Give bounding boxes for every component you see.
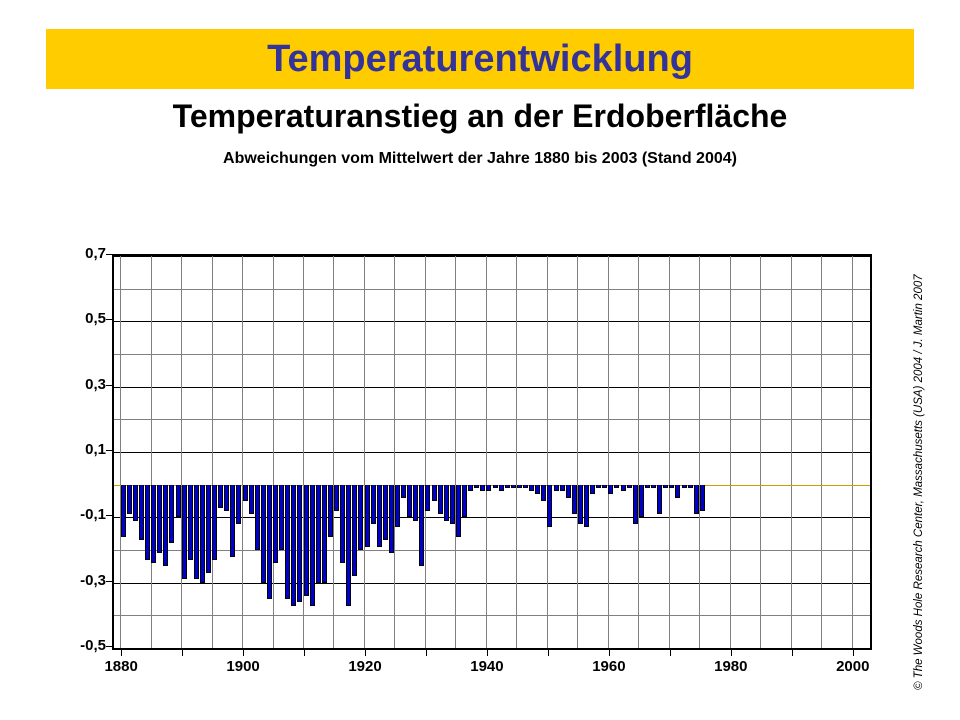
bar (249, 485, 254, 514)
x-axis-labels: 1880190019201940196019802000 (112, 658, 872, 682)
bar (614, 485, 619, 488)
x-axis-tick (365, 650, 366, 656)
gridline-vertical (669, 256, 670, 648)
bar (334, 485, 339, 511)
x-axis-tick-label: 1920 (325, 658, 405, 675)
bar (547, 485, 552, 527)
x-axis-tick-label: 1880 (81, 658, 161, 675)
x-axis-tick (609, 650, 610, 656)
bar (425, 485, 430, 511)
bar (633, 485, 638, 524)
bar (133, 485, 138, 521)
bar (236, 485, 241, 524)
bar (401, 485, 406, 498)
bar (291, 485, 296, 606)
bar (456, 485, 461, 537)
gridline-horizontal (114, 321, 870, 322)
bar (346, 485, 351, 606)
bar (541, 485, 546, 501)
bar (529, 485, 534, 492)
gridline-vertical (120, 256, 121, 648)
bar (669, 485, 674, 488)
bar (267, 485, 272, 599)
bar (486, 485, 491, 492)
x-axis-tick (731, 650, 732, 656)
y-axis-tick-label: -0,3 (46, 572, 106, 589)
plot-area (112, 254, 872, 650)
y-axis-tick-label: -0,1 (46, 506, 106, 523)
gridline-vertical (455, 256, 456, 648)
bar (157, 485, 162, 554)
bar (316, 485, 321, 583)
gridline-horizontal (114, 289, 870, 290)
bar (273, 485, 278, 563)
bar (371, 485, 376, 524)
bar (176, 485, 181, 518)
bar (535, 485, 540, 495)
x-axis-tick (670, 650, 671, 656)
bar (255, 485, 260, 550)
x-axis-tick-label: 1940 (447, 658, 527, 675)
gridline-vertical (577, 256, 578, 648)
bar (407, 485, 412, 518)
gridline-vertical (730, 256, 731, 648)
bar (572, 485, 577, 514)
bar (438, 485, 443, 514)
bar (566, 485, 571, 498)
gridline-horizontal (114, 354, 870, 355)
x-axis-ticks (112, 650, 872, 657)
bar (694, 485, 699, 514)
bar (188, 485, 193, 560)
x-axis-tick (243, 650, 244, 656)
bar (127, 485, 132, 514)
gridline-vertical (151, 256, 152, 648)
gridline-vertical (364, 256, 365, 648)
gridline-vertical (516, 256, 517, 648)
gridline-vertical (212, 256, 213, 648)
bar (499, 485, 504, 492)
bar (517, 485, 522, 488)
gridline-vertical (394, 256, 395, 648)
bar (432, 485, 437, 501)
bar (578, 485, 583, 524)
bar (304, 485, 309, 596)
bar (163, 485, 168, 567)
bar (554, 485, 559, 492)
gridline-vertical (699, 256, 700, 648)
gridline-horizontal (114, 648, 870, 649)
bar (474, 485, 479, 488)
gridline-horizontal (114, 419, 870, 420)
bar (279, 485, 284, 550)
x-axis-tick (182, 650, 183, 656)
y-axis-tick-label: 0,1 (46, 441, 106, 458)
x-axis-tick-label: 2000 (813, 658, 893, 675)
y-axis-tick-label: 0,3 (46, 376, 106, 393)
x-axis-tick (487, 650, 488, 656)
bar (639, 485, 644, 518)
bar (383, 485, 388, 541)
gridline-vertical (273, 256, 274, 648)
gridline-vertical (608, 256, 609, 648)
bar (511, 485, 516, 488)
bar (621, 485, 626, 492)
gridline-horizontal (114, 583, 870, 584)
y-axis-tick-label: -0,5 (46, 637, 106, 654)
bar (663, 485, 668, 488)
temperature-anomaly-chart: 0,70,50,30,1-0,1-0,3-0,5 188019001920194… (0, 0, 960, 720)
bar (352, 485, 357, 576)
bar (121, 485, 126, 537)
gridline-vertical (486, 256, 487, 648)
bar (590, 485, 595, 495)
bar (505, 485, 510, 488)
gridline-vertical (333, 256, 334, 648)
bar (651, 485, 656, 488)
bar (310, 485, 315, 606)
bar (169, 485, 174, 544)
bar (523, 485, 528, 488)
gridline-horizontal (114, 517, 870, 518)
bar (395, 485, 400, 527)
bar (377, 485, 382, 547)
x-axis-tick (121, 650, 122, 656)
bar (297, 485, 302, 603)
gridline-vertical (242, 256, 243, 648)
bar (285, 485, 290, 599)
bar (182, 485, 187, 580)
bar (450, 485, 455, 524)
bar (675, 485, 680, 498)
bar (328, 485, 333, 537)
bar (218, 485, 223, 508)
bar (682, 485, 687, 488)
bar (145, 485, 150, 560)
y-axis-tick-label: 0,5 (46, 310, 106, 327)
bar (657, 485, 662, 514)
bar (493, 485, 498, 488)
gridline-horizontal (114, 387, 870, 388)
bar (340, 485, 345, 563)
x-axis-tick (792, 650, 793, 656)
gridline-horizontal (114, 550, 870, 551)
bar (200, 485, 205, 583)
bar (627, 485, 632, 488)
bar (468, 485, 473, 492)
bar (365, 485, 370, 547)
gridline-vertical (181, 256, 182, 648)
bar (700, 485, 705, 511)
bar (413, 485, 418, 521)
x-axis-tick (426, 650, 427, 656)
x-axis-tick (853, 650, 854, 656)
gridline-vertical (821, 256, 822, 648)
bar (419, 485, 424, 567)
bar (322, 485, 327, 583)
bar (151, 485, 156, 563)
bar (462, 485, 467, 518)
bar (602, 485, 607, 488)
bar (480, 485, 485, 492)
bar (194, 485, 199, 580)
bar (139, 485, 144, 541)
y-axis-labels: 0,70,50,30,1-0,1-0,3-0,5 (42, 254, 106, 650)
bar (444, 485, 449, 521)
gridline-vertical (547, 256, 548, 648)
bar (584, 485, 589, 527)
gridline-vertical (760, 256, 761, 648)
bar (261, 485, 266, 583)
bar (608, 485, 613, 495)
gridline-vertical (791, 256, 792, 648)
bar (243, 485, 248, 501)
bar (230, 485, 235, 557)
gridline-vertical (852, 256, 853, 648)
gridline-vertical (638, 256, 639, 648)
gridline-horizontal (114, 615, 870, 616)
gridline-horizontal (114, 452, 870, 453)
bar (206, 485, 211, 573)
bar (224, 485, 229, 511)
bar (645, 485, 650, 488)
bar (358, 485, 363, 550)
y-axis-tick-label: 0,7 (46, 245, 106, 262)
gridline-horizontal (114, 256, 870, 257)
bar (560, 485, 565, 492)
bar (596, 485, 601, 488)
gridline-vertical (425, 256, 426, 648)
bar (389, 485, 394, 554)
x-axis-tick (304, 650, 305, 656)
bar (688, 485, 693, 488)
x-axis-tick (548, 650, 549, 656)
bar (212, 485, 217, 560)
x-axis-tick-label: 1900 (203, 658, 283, 675)
x-axis-tick-label: 1980 (691, 658, 771, 675)
x-axis-tick-label: 1960 (569, 658, 649, 675)
